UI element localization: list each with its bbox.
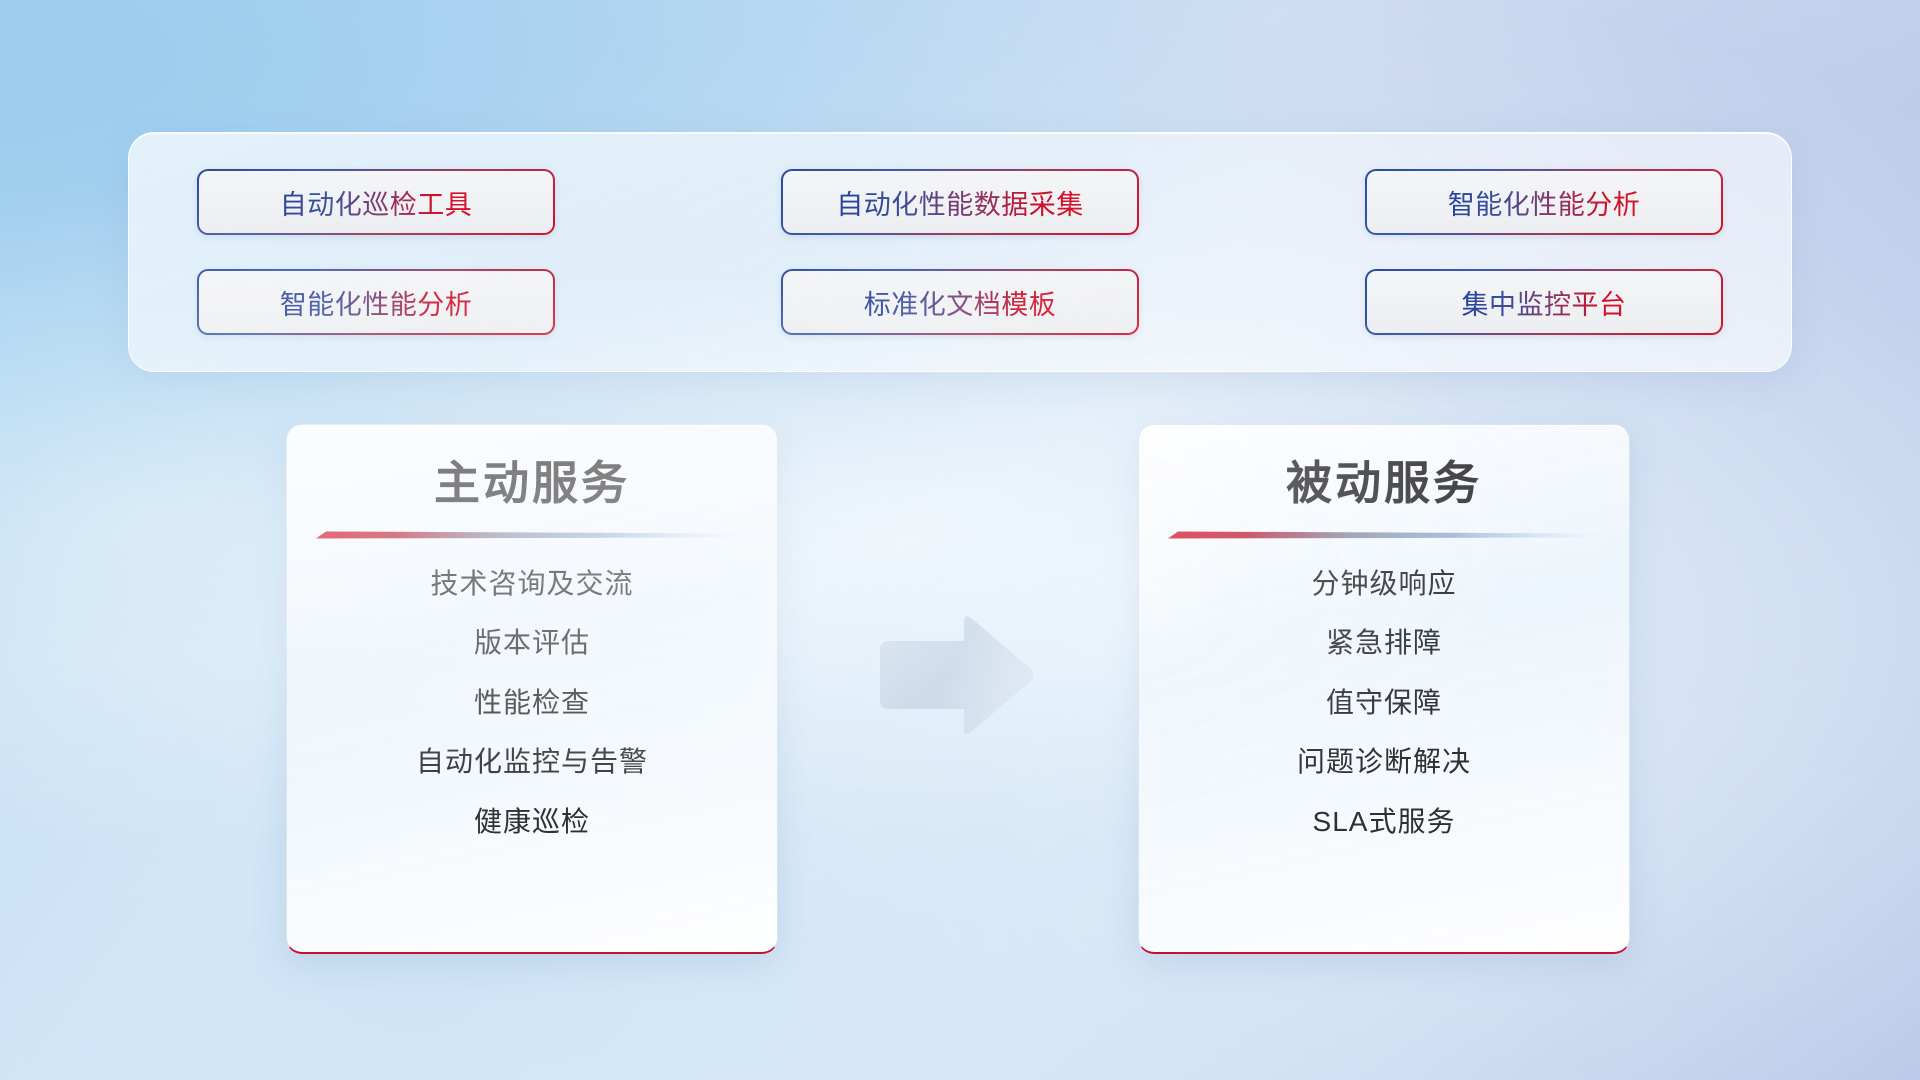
capability-pill-inner: 标准化文档模板 — [783, 271, 1137, 333]
list-item: SLA式服务 — [1313, 805, 1456, 839]
capability-pill-label: 智能化性能分析 — [280, 283, 473, 322]
right-arrow-icon — [872, 610, 1037, 740]
capability-pill[interactable]: 智能化性能分析 — [197, 269, 555, 335]
capability-pill-inner: 智能化性能分析 — [199, 271, 553, 333]
list-item: 自动化监控与告警 — [416, 745, 648, 779]
capability-pill-inner: 智能化性能分析 — [1367, 171, 1721, 233]
list-item: 版本评估 — [474, 626, 590, 660]
service-card-list: 分钟级响应 紧急排障 值守保障 问题诊断解决 SLA式服务 — [1173, 567, 1595, 839]
list-item: 健康巡检 — [474, 805, 590, 839]
service-card-list: 技术咨询及交流 版本评估 性能检查 自动化监控与告警 健康巡检 — [321, 567, 743, 839]
card-divider-icon — [1168, 529, 1600, 541]
list-item: 紧急排障 — [1326, 626, 1442, 660]
capability-pill-inner: 自动化性能数据采集 — [783, 171, 1137, 233]
list-item: 技术咨询及交流 — [430, 567, 633, 601]
capability-pill-inner: 集中监控平台 — [1367, 271, 1721, 333]
capability-pill[interactable]: 自动化性能数据采集 — [781, 169, 1139, 235]
service-card-title: 被动服务 — [1286, 455, 1482, 513]
capability-pill[interactable]: 自动化巡检工具 — [197, 169, 555, 235]
capability-pill-label: 集中监控平台 — [1462, 283, 1627, 322]
card-divider-icon — [316, 529, 748, 541]
service-card-passive: 被动服务 分钟级响应 紧急排障 值守保障 问题诊断解决 SLA式服务 — [1138, 424, 1630, 954]
capability-pill-label: 自动化性能数据采集 — [836, 183, 1084, 222]
list-item: 值守保障 — [1326, 686, 1442, 720]
capability-pill-label: 标准化文档模板 — [864, 283, 1057, 322]
capability-pill[interactable]: 集中监控平台 — [1365, 269, 1723, 335]
capability-row-1: 自动化巡检工具 自动化性能数据采集 智能化性能分析 — [197, 169, 1723, 235]
capability-pill-label: 自动化巡检工具 — [280, 183, 473, 222]
capabilities-panel: 自动化巡检工具 自动化性能数据采集 智能化性能分析 智能化性能分析 — [128, 132, 1792, 372]
service-card-title: 主动服务 — [434, 455, 630, 513]
capability-pill[interactable]: 智能化性能分析 — [1365, 169, 1723, 235]
capability-pill-inner: 自动化巡检工具 — [199, 171, 553, 233]
capability-pill[interactable]: 标准化文档模板 — [781, 269, 1139, 335]
service-card-active: 主动服务 技术咨询及交流 版本评估 性能检查 自动化监控与告警 健康巡检 — [286, 424, 778, 954]
list-item: 问题诊断解决 — [1297, 745, 1471, 779]
list-item: 分钟级响应 — [1311, 567, 1456, 601]
diagram-canvas: 自动化巡检工具 自动化性能数据采集 智能化性能分析 智能化性能分析 — [0, 0, 1920, 1080]
capability-row-2: 智能化性能分析 标准化文档模板 集中监控平台 — [197, 269, 1723, 335]
capability-pill-label: 智能化性能分析 — [1448, 183, 1641, 222]
list-item: 性能检查 — [474, 686, 590, 720]
